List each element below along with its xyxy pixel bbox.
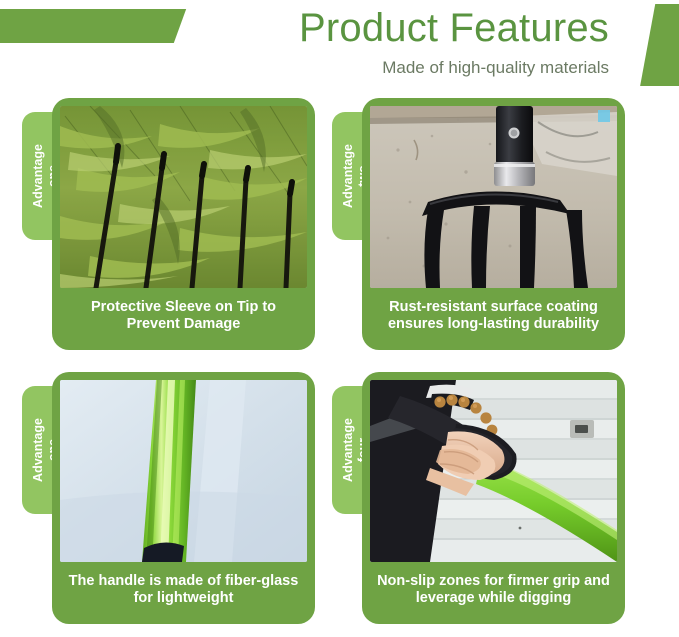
feature-caption-3: The handle is made of fiber-glass for li… xyxy=(60,562,307,616)
feature-caption-4: Non-slip zones for firmer grip and lever… xyxy=(370,562,617,616)
page-subtitle: Made of high-quality materials xyxy=(0,57,609,79)
features-grid: Advantage one xyxy=(0,95,679,630)
advantage-tab-line1-1: Advantage xyxy=(31,144,45,208)
page-header: Product Features Made of high-quality ma… xyxy=(0,0,679,95)
photo-bamboo-stakes-in-grass xyxy=(60,106,307,288)
feature-caption-1: Protective Sleeve on Tip to Prevent Dama… xyxy=(60,288,307,342)
feature-caption-2: Rust-resistant surface coating ensures l… xyxy=(370,288,617,342)
feature-card-3[interactable]: The handle is made of fiber-glass for li… xyxy=(52,372,315,624)
feature-card-4[interactable]: Non-slip zones for firmer grip and lever… xyxy=(362,372,625,624)
photo-garden-fork-head-on-concrete xyxy=(370,106,617,288)
feature-card-1[interactable]: Protective Sleeve on Tip to Prevent Dama… xyxy=(52,98,315,350)
photo-hand-gripping-handle-by-siding xyxy=(370,380,617,562)
photo-green-fiberglass-handle xyxy=(60,380,307,562)
page-title: Product Features xyxy=(0,4,609,52)
advantage-tab-line1-2: Advantage xyxy=(341,144,355,208)
feature-card-slot-2: Advantage two xyxy=(310,95,650,363)
advantage-tab-line1-3: Advantage xyxy=(31,418,45,482)
feature-card-slot-3: Advantage one xyxy=(0,369,340,637)
feature-card-2[interactable]: Rust-resistant surface coating ensures l… xyxy=(362,98,625,350)
advantage-tab-line1-4: Advantage xyxy=(341,418,355,482)
header-accent-shape-right xyxy=(625,4,679,86)
feature-card-slot-4: Advantage four xyxy=(310,369,650,637)
feature-card-slot-1: Advantage one xyxy=(0,95,340,363)
